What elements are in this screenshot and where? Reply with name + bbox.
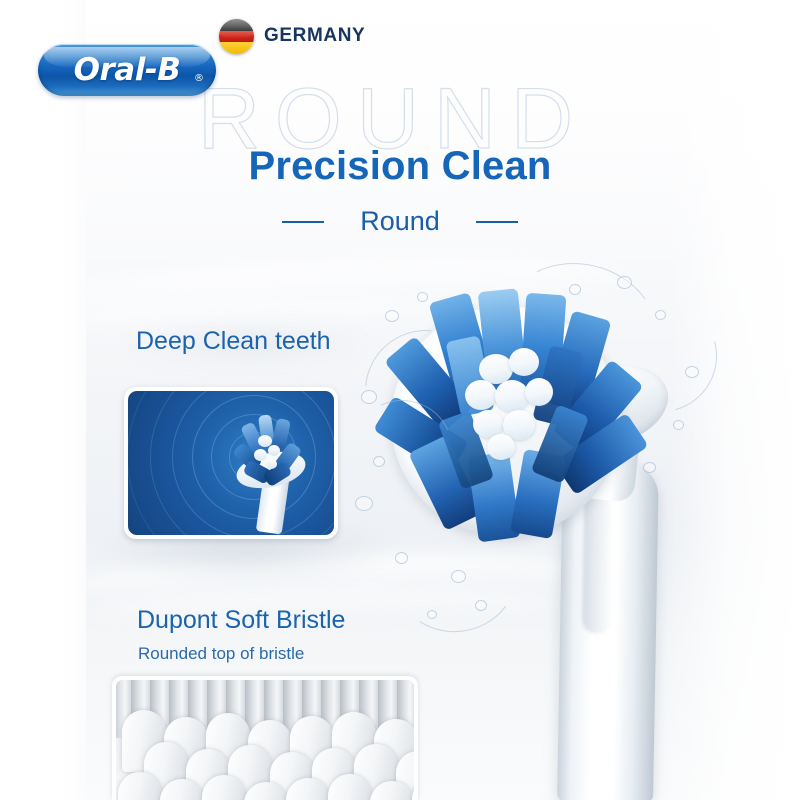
brand-header: Oral-B ® GERMANY	[0, 0, 800, 110]
brush-bristles	[391, 288, 641, 548]
registered-mark-icon: ®	[194, 73, 204, 84]
subtitle-row: Round	[0, 206, 800, 237]
feature-sublabel-rounded-top: Rounded top of bristle	[138, 644, 304, 664]
left-margin-strip	[0, 0, 86, 800]
feature-label-deep-clean: Deep Clean teeth	[136, 327, 331, 356]
dash-right-icon	[476, 221, 518, 223]
page-subtitle: Round	[360, 206, 440, 237]
brush-head-closeup-image	[124, 387, 338, 539]
country-label: GERMANY	[264, 25, 365, 47]
germany-flag-icon	[219, 19, 254, 54]
mini-brush-head	[224, 409, 320, 529]
logo-text: Oral-B	[74, 52, 181, 88]
product-advertisement-page: ROUND	[0, 0, 800, 800]
bristle-macro-image	[112, 676, 418, 800]
oral-b-logo: Oral-B ®	[38, 44, 216, 96]
dash-left-icon	[282, 221, 324, 223]
page-title: Precision Clean	[0, 144, 800, 189]
product-photo	[355, 270, 800, 800]
feature-label-dupont-bristle: Dupont Soft Bristle	[137, 606, 345, 635]
